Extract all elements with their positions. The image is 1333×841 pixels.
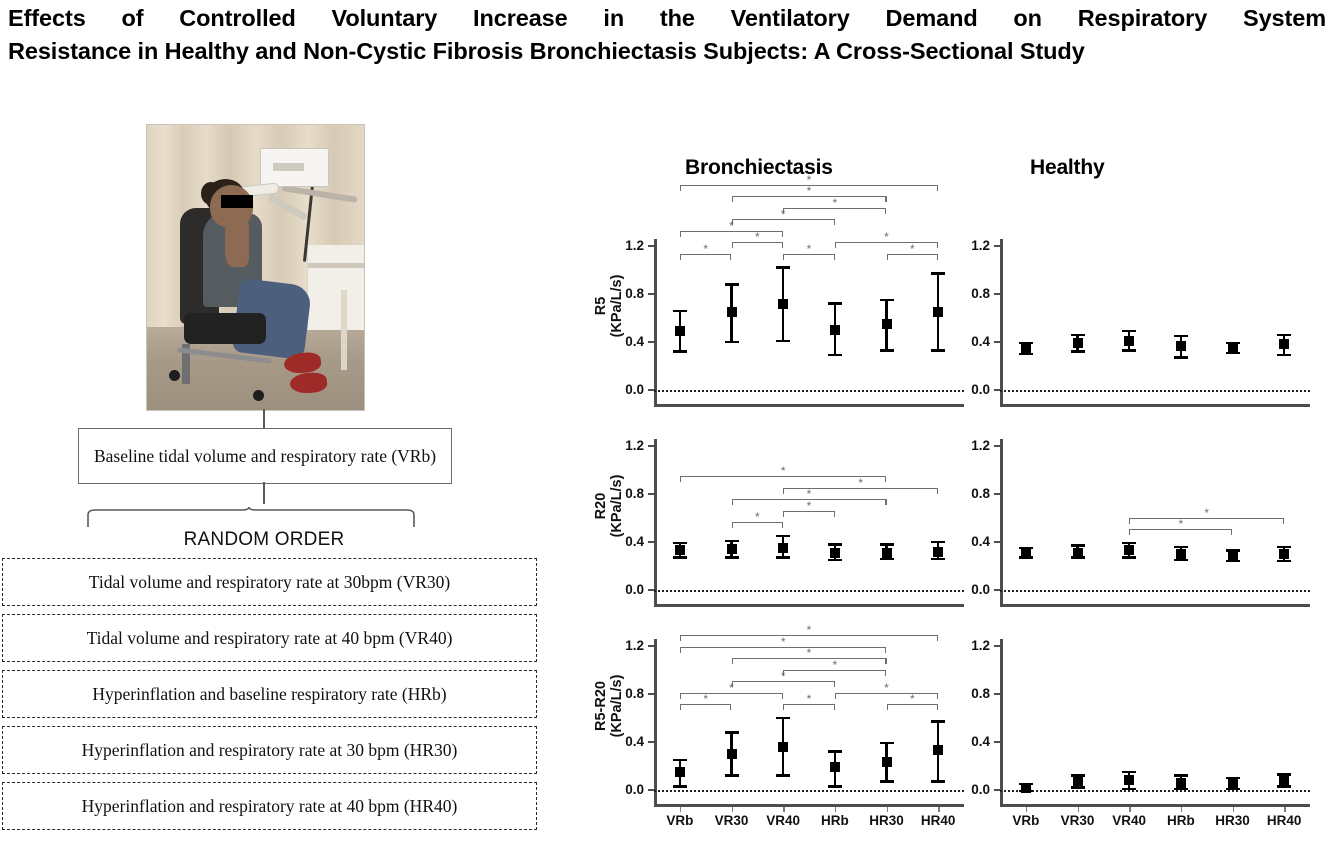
significance-bracket-right-end	[1283, 518, 1284, 524]
significance-bracket-right-end	[834, 511, 835, 517]
zero-reference-line	[1000, 790, 1310, 792]
error-bar-cap-lower	[673, 350, 687, 353]
flow-condition-label: Tidal volume and respiratory rate at 30b…	[89, 572, 450, 593]
x-axis-line	[654, 604, 964, 607]
mean-marker	[1021, 343, 1031, 353]
error-bar-cap-upper	[880, 299, 894, 302]
significance-bracket-left-end	[1129, 529, 1130, 535]
significance-star: *	[781, 465, 786, 477]
x-axis-line	[654, 804, 964, 807]
error-bar-cap-lower	[1019, 353, 1033, 356]
title-line-1: Effects of Controlled Voluntary Increase…	[8, 2, 1326, 35]
significance-star: *	[858, 477, 863, 489]
y-tick-mark	[648, 245, 654, 247]
y-tick-label: 0.0	[954, 783, 990, 797]
error-bar-cap-lower	[673, 556, 687, 559]
y-tick-label: 1.2	[954, 239, 990, 253]
zero-reference-line	[654, 390, 964, 392]
y-tick-mark	[648, 293, 654, 295]
error-bar-cap-upper	[828, 750, 842, 753]
y-tick-label: 0.8	[954, 487, 990, 501]
mean-marker	[675, 767, 685, 777]
y-axis-line	[1000, 639, 1003, 805]
photo-chair-seat	[184, 313, 266, 344]
significance-bracket-right-end	[937, 488, 938, 494]
mean-marker	[1073, 777, 1083, 787]
x-tick-mark	[732, 807, 734, 812]
mean-marker	[727, 544, 737, 554]
flow-condition-vr40: Tidal volume and respiratory rate at 40 …	[2, 614, 537, 662]
flow-condition-vr30: Tidal volume and respiratory rate at 30b…	[2, 558, 537, 606]
significance-bracket-left-end	[783, 254, 784, 260]
error-bar-cap-upper	[1174, 335, 1188, 338]
significance-bracket-right-end	[885, 499, 886, 505]
flow-box-baseline-label: Baseline tidal volume and respiratory ra…	[94, 445, 436, 467]
mean-marker	[727, 749, 737, 759]
mean-marker	[778, 543, 788, 553]
mean-marker	[1279, 549, 1289, 559]
error-bar-cap-lower	[1277, 354, 1291, 357]
photo-chair-caster	[169, 370, 180, 381]
x-tick-label-vr40: VR40	[1101, 814, 1157, 828]
error-bar-cap-lower	[1071, 786, 1085, 789]
y-tick-mark	[648, 541, 654, 543]
y-tick-mark	[648, 445, 654, 447]
y-axis-title-unit: (KPa/L/s)	[609, 631, 625, 781]
x-tick-label-vrb: VRb	[998, 814, 1054, 828]
mean-marker	[830, 548, 840, 558]
mean-marker	[675, 545, 685, 555]
x-tick-label-hr30: HR30	[859, 814, 915, 828]
photo-desk-leg	[341, 290, 347, 370]
significance-bracket-right-end	[834, 681, 835, 687]
significance-bracket-right-end	[937, 635, 938, 641]
y-axis-line	[1000, 439, 1003, 605]
study-setup-photo	[146, 124, 365, 411]
y-tick-mark	[648, 645, 654, 647]
significance-bracket-right-end	[937, 185, 938, 191]
x-tick-mark	[783, 807, 785, 812]
error-bar-cap-upper	[1277, 546, 1291, 549]
error-bar-cap-lower	[725, 556, 739, 559]
significance-star: *	[807, 488, 812, 500]
significance-star: *	[703, 243, 708, 255]
error-bar-cap-lower	[880, 558, 894, 561]
significance-bracket-right-end	[937, 254, 938, 260]
random-order-brace	[86, 506, 416, 528]
significance-star: *	[910, 693, 915, 705]
significance-bracket-left-end	[835, 693, 836, 699]
random-order-label: RANDOM ORDER	[78, 529, 450, 551]
error-bar-cap-upper	[725, 731, 739, 734]
y-tick-mark	[994, 245, 1000, 247]
y-tick-mark	[648, 341, 654, 343]
column-title-healthy: Healthy	[1030, 156, 1104, 180]
y-tick-label: 0.0	[608, 583, 644, 597]
mean-marker	[1124, 336, 1134, 346]
x-axis-line	[654, 404, 964, 407]
error-bar-cap-upper	[931, 272, 945, 275]
error-bar-cap-lower	[1174, 356, 1188, 359]
significance-bracket-left-end	[887, 254, 888, 260]
mean-marker	[882, 548, 892, 558]
y-tick-mark	[994, 445, 1000, 447]
error-bar-cap-upper	[776, 266, 790, 269]
significance-star: *	[755, 511, 760, 523]
mean-marker	[1021, 548, 1031, 558]
y-axis-title-measure: R20	[593, 431, 609, 581]
y-tick-label: 1.2	[954, 639, 990, 653]
significance-bracket-right-end	[937, 693, 938, 699]
error-bar-cap-upper	[725, 283, 739, 286]
significance-bracket-left-end	[835, 242, 836, 248]
error-bar-cap-lower	[880, 780, 894, 783]
mean-marker	[1124, 775, 1134, 785]
mean-marker	[1176, 341, 1186, 351]
x-axis-line	[1000, 404, 1310, 407]
mean-marker	[933, 547, 943, 557]
significance-bracket-left-end	[732, 242, 733, 248]
error-bar-cap-lower	[1122, 788, 1136, 791]
mean-marker	[778, 742, 788, 752]
y-tick-label: 0.4	[954, 535, 990, 549]
chart-panel-r5-r20-healthy: 0.00.40.81.2VRbVR30VR40HRbHR30HR40	[1000, 634, 1310, 814]
significance-bracket-left-end	[783, 704, 784, 710]
y-tick-mark	[648, 693, 654, 695]
y-tick-mark	[648, 741, 654, 743]
significance-bracket-right-end	[885, 476, 886, 482]
flow-condition-label: Hyperinflation and respiratory rate at 4…	[82, 796, 458, 817]
mean-marker	[1228, 551, 1238, 561]
x-tick-mark	[1026, 807, 1028, 812]
significance-star: *	[703, 693, 708, 705]
significance-star: *	[807, 693, 812, 705]
error-bar-cap-lower	[880, 349, 894, 352]
x-axis-line	[1000, 604, 1310, 607]
title-line-2: Resistance in Healthy and Non-Cystic Fib…	[8, 35, 1326, 68]
error-bar-cap-upper	[673, 310, 687, 313]
y-axis-line	[654, 639, 657, 805]
mean-marker	[882, 757, 892, 767]
mean-marker	[1176, 778, 1186, 788]
zero-reference-line	[654, 590, 964, 592]
y-tick-label: 1.2	[954, 439, 990, 453]
error-bar-cap-upper	[1122, 771, 1136, 774]
error-bar-cap-upper	[673, 542, 687, 545]
significance-bracket-right-end	[782, 242, 783, 248]
error-bar-cap-lower	[776, 556, 790, 559]
x-tick-label-vr40: VR40	[755, 814, 811, 828]
x-tick-mark	[680, 807, 682, 812]
significance-bracket-right-end	[885, 658, 886, 664]
significance-bracket-left-end	[680, 635, 681, 641]
flow-condition-label: Tidal volume and respiratory rate at 40 …	[87, 628, 453, 649]
significance-bracket-left-end	[680, 704, 681, 710]
significance-star: *	[1204, 507, 1209, 519]
significance-bracket-right-end	[885, 208, 886, 214]
error-bar-cap-lower	[1277, 785, 1291, 788]
mean-marker	[675, 326, 685, 336]
x-tick-mark	[1181, 807, 1183, 812]
error-bar-cap-lower	[776, 340, 790, 343]
x-tick-mark	[1284, 807, 1286, 812]
y-tick-label: 0.0	[954, 583, 990, 597]
error-bar-cap-upper	[1071, 544, 1085, 547]
chart-panel-r20-healthy: 0.00.40.81.2**	[1000, 434, 1310, 614]
page-title: Effects of Controlled Voluntary Increase…	[8, 2, 1326, 69]
significance-star: *	[755, 231, 760, 243]
flow-condition-label: Hyperinflation and baseline respiratory …	[92, 684, 446, 705]
error-bar-cap-upper	[828, 543, 842, 546]
error-bar-cap-upper	[776, 717, 790, 720]
significance-star: *	[781, 636, 786, 648]
error-bar-cap-lower	[1122, 556, 1136, 559]
flow-box-baseline: Baseline tidal volume and respiratory ra…	[78, 428, 452, 484]
error-bar-cap-lower	[828, 785, 842, 788]
mean-marker	[727, 307, 737, 317]
error-bar-cap-lower	[931, 558, 945, 561]
error-bar-cap-upper	[880, 742, 894, 745]
x-tick-mark	[1078, 807, 1080, 812]
error-bar-cap-lower	[725, 774, 739, 777]
significance-bracket-left-end	[1129, 518, 1130, 524]
significance-bracket-left-end	[680, 693, 681, 699]
significance-bracket-left-end	[732, 196, 733, 202]
y-tick-mark	[994, 645, 1000, 647]
significance-bracket-left-end	[783, 208, 784, 214]
x-tick-label-vrb: VRb	[652, 814, 708, 828]
error-bar-cap-lower	[931, 349, 945, 352]
significance-star: *	[832, 197, 837, 209]
x-tick-mark	[835, 807, 837, 812]
significance-bracket-right-end	[885, 670, 886, 676]
x-tick-label-hr40: HR40	[910, 814, 966, 828]
y-tick-mark	[994, 341, 1000, 343]
error-bar-cap-lower	[776, 774, 790, 777]
significance-bracket-left-end	[680, 647, 681, 653]
mean-marker	[1124, 545, 1134, 555]
significance-bracket-right-end	[782, 522, 783, 528]
error-bar-cap-lower	[673, 785, 687, 788]
significance-star: *	[807, 500, 812, 512]
photo-oscillometry-device	[260, 148, 329, 187]
error-bar-cap-lower	[725, 341, 739, 344]
x-tick-label-hr40: HR40	[1256, 814, 1312, 828]
y-tick-label: 0.8	[954, 687, 990, 701]
significance-bracket-left-end	[783, 511, 784, 517]
significance-star: *	[807, 243, 812, 255]
significance-bracket-left-end	[732, 658, 733, 664]
mean-marker	[830, 762, 840, 772]
zero-reference-line	[1000, 590, 1310, 592]
mean-marker	[1279, 775, 1289, 785]
significance-bracket-right-end	[1231, 529, 1232, 535]
error-bar-cap-upper	[1122, 330, 1136, 333]
y-axis-title-unit: (KPa/L/s)	[609, 231, 625, 381]
significance-bracket-left-end	[680, 231, 681, 237]
photo-desk	[306, 245, 364, 331]
error-bar-cap-lower	[931, 780, 945, 783]
y-tick-mark	[994, 293, 1000, 295]
significance-bracket-right-end	[782, 231, 783, 237]
mean-marker	[933, 745, 943, 755]
x-tick-mark	[1233, 807, 1235, 812]
flow-connector-baseline-to-brace	[263, 482, 265, 504]
x-tick-label-vr30: VR30	[704, 814, 760, 828]
mean-marker	[882, 319, 892, 329]
mean-marker	[1073, 548, 1083, 558]
significance-bracket-left-end	[680, 476, 681, 482]
y-tick-label: 0.4	[954, 335, 990, 349]
error-bar-cap-lower	[1122, 349, 1136, 352]
x-tick-label-hrb: HRb	[1153, 814, 1209, 828]
y-axis-title-unit: (KPa/L/s)	[609, 431, 625, 581]
photo-privacy-bar	[221, 195, 254, 208]
y-axis-line	[1000, 239, 1003, 405]
significance-bracket-left-end	[783, 670, 784, 676]
flow-condition-hr30: Hyperinflation and respiratory rate at 3…	[2, 726, 537, 774]
y-tick-mark	[994, 493, 1000, 495]
mean-marker	[778, 299, 788, 309]
error-bar-cap-upper	[931, 720, 945, 723]
error-bar-cap-upper	[1071, 334, 1085, 337]
mean-marker	[1176, 549, 1186, 559]
error-bar-cap-upper	[725, 540, 739, 543]
significance-bracket-right-end	[834, 704, 835, 710]
chart-panel-r5-r20-bronchiectasis: 0.00.40.81.2R5-R20(KPa/L/s)**********VRb…	[654, 634, 964, 814]
x-axis-line	[1000, 804, 1310, 807]
significance-bracket-left-end	[680, 254, 681, 260]
y-tick-label: 0.4	[954, 735, 990, 749]
significance-star: *	[832, 659, 837, 671]
significance-bracket-left-end	[680, 185, 681, 191]
error-bar-cap-lower	[1277, 560, 1291, 563]
significance-bracket-right-end	[782, 693, 783, 699]
y-tick-mark	[994, 541, 1000, 543]
error-bar-cap-upper	[828, 302, 842, 305]
chart-panel-r20-bronchiectasis: 0.00.40.81.2R20(KPa/L/s)*****	[654, 434, 964, 614]
y-axis-title-measure: R5-R20	[593, 631, 609, 781]
significance-star: *	[884, 231, 889, 243]
x-tick-mark	[938, 807, 940, 812]
error-bar-cap-lower	[1071, 350, 1085, 353]
error-bar-cap-lower	[828, 559, 842, 562]
significance-bracket-left-end	[732, 219, 733, 225]
error-bar-cap-upper	[1122, 542, 1136, 545]
y-axis-title: R5-R20(KPa/L/s)	[593, 631, 625, 781]
mean-marker	[933, 307, 943, 317]
zero-reference-line	[654, 790, 964, 792]
flow-condition-hr40: Hyperinflation and respiratory rate at 4…	[2, 782, 537, 830]
significance-bracket-left-end	[887, 704, 888, 710]
significance-bracket-right-end	[834, 254, 835, 260]
zero-reference-line	[1000, 390, 1310, 392]
y-tick-label: 0.8	[954, 287, 990, 301]
x-tick-label-hrb: HRb	[807, 814, 863, 828]
significance-star: *	[1178, 518, 1183, 530]
y-tick-mark	[648, 493, 654, 495]
mean-marker	[1073, 338, 1083, 348]
y-tick-label: 0.0	[608, 783, 644, 797]
mean-marker	[1279, 339, 1289, 349]
y-tick-mark	[994, 741, 1000, 743]
error-bar-cap-upper	[673, 759, 687, 762]
flow-condition-hrb: Hyperinflation and baseline respiratory …	[2, 670, 537, 718]
significance-bracket-right-end	[730, 704, 731, 710]
flow-condition-label: Hyperinflation and respiratory rate at 3…	[82, 740, 458, 761]
y-tick-mark	[994, 693, 1000, 695]
error-bar-cap-upper	[880, 543, 894, 546]
y-axis-title: R5(KPa/L/s)	[593, 231, 625, 381]
mean-marker	[1228, 779, 1238, 789]
y-axis-title: R20(KPa/L/s)	[593, 431, 625, 581]
y-tick-label: 0.0	[954, 383, 990, 397]
significance-bracket-left-end	[732, 681, 733, 687]
significance-bracket-right-end	[937, 704, 938, 710]
charts-region: Bronchiectasis Healthy 0.00.40.81.2R5(KP…	[560, 150, 1333, 841]
x-tick-label-hr30: HR30	[1205, 814, 1261, 828]
x-tick-mark	[887, 807, 889, 812]
significance-bracket-right-end	[730, 254, 731, 260]
significance-star: *	[884, 682, 889, 694]
chart-panel-r5-bronchiectasis: 0.00.40.81.2R5(KPa/L/s)**********	[654, 234, 964, 414]
error-bar-cap-lower	[1174, 559, 1188, 562]
significance-star: *	[807, 647, 812, 659]
significance-bracket-right-end	[885, 196, 886, 202]
significance-bracket-right-end	[937, 242, 938, 248]
significance-star: *	[807, 624, 812, 636]
mean-marker	[1228, 343, 1238, 353]
significance-bracket-left-end	[732, 522, 733, 528]
error-bar-cap-lower	[828, 354, 842, 357]
error-bar-cap-upper	[776, 535, 790, 538]
y-axis-title-measure: R5	[593, 231, 609, 381]
chart-panel-r5-healthy: 0.00.40.81.2	[1000, 234, 1310, 414]
error-bar-cap-upper	[931, 541, 945, 544]
error-bar-cap-lower	[1174, 788, 1188, 791]
error-bar-cap-upper	[1277, 334, 1291, 337]
significance-star: *	[910, 243, 915, 255]
flow-connector-photo-to-baseline	[263, 409, 265, 428]
mean-marker	[830, 325, 840, 335]
x-tick-label-vr30: VR30	[1050, 814, 1106, 828]
significance-bracket-left-end	[732, 499, 733, 505]
y-tick-label: 0.0	[608, 383, 644, 397]
error-bar-cap-upper	[1174, 774, 1188, 777]
significance-star: *	[807, 185, 812, 197]
error-bar-cap-upper	[1174, 546, 1188, 549]
significance-bracket-right-end	[885, 647, 886, 653]
mean-marker	[1021, 783, 1031, 793]
significance-bracket-right-end	[834, 219, 835, 225]
y-axis-line	[654, 439, 657, 605]
x-tick-mark	[1129, 807, 1131, 812]
y-axis-line	[654, 239, 657, 405]
significance-bracket-left-end	[783, 488, 784, 494]
